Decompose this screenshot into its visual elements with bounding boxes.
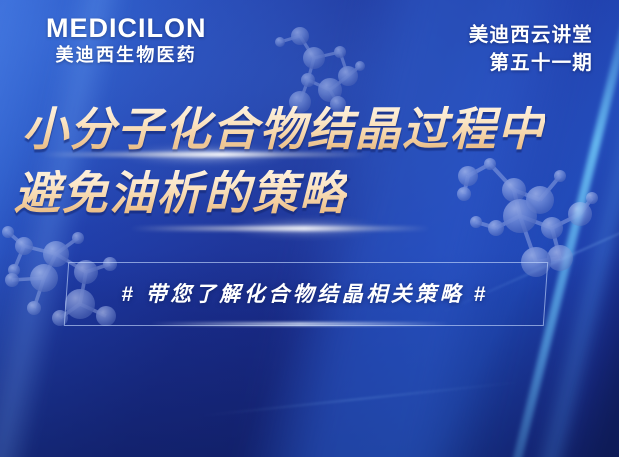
brand-logo: MEDICILON 美迪西生物医药 bbox=[46, 14, 207, 66]
brand-name-cn: 美迪西生物医药 bbox=[46, 46, 207, 66]
subtitle-text: # 带您了解化合物结晶相关策略 # bbox=[66, 262, 544, 324]
title-line-2: 避免油析的策略 避免油析的策略 bbox=[0, 170, 619, 216]
title-line-1: 小分子化合物结晶过程中 小分子化合物结晶过程中 bbox=[0, 106, 619, 152]
title-flare-lower-glow bbox=[230, 220, 380, 236]
episode-series: 美迪西云讲堂 bbox=[469, 22, 593, 50]
title-line-1-text: 小分子化合物结晶过程中 bbox=[22, 106, 545, 152]
title-flare-upper-glow bbox=[120, 147, 290, 163]
episode-block: 美迪西云讲堂 第五十一期 bbox=[469, 22, 593, 77]
brand-name-en: MEDICILON bbox=[46, 14, 207, 42]
poster-title: 小分子化合物结晶过程中 小分子化合物结晶过程中 避免油析的策略 避免油析的策略 bbox=[0, 106, 619, 216]
episode-number: 第五十一期 bbox=[469, 50, 593, 78]
webinar-poster: MEDICILON 美迪西生物医药 美迪西云讲堂 第五十一期 小分子化合物结晶过… bbox=[0, 0, 619, 457]
title-line-2-text: 避免油析的策略 bbox=[14, 170, 347, 216]
